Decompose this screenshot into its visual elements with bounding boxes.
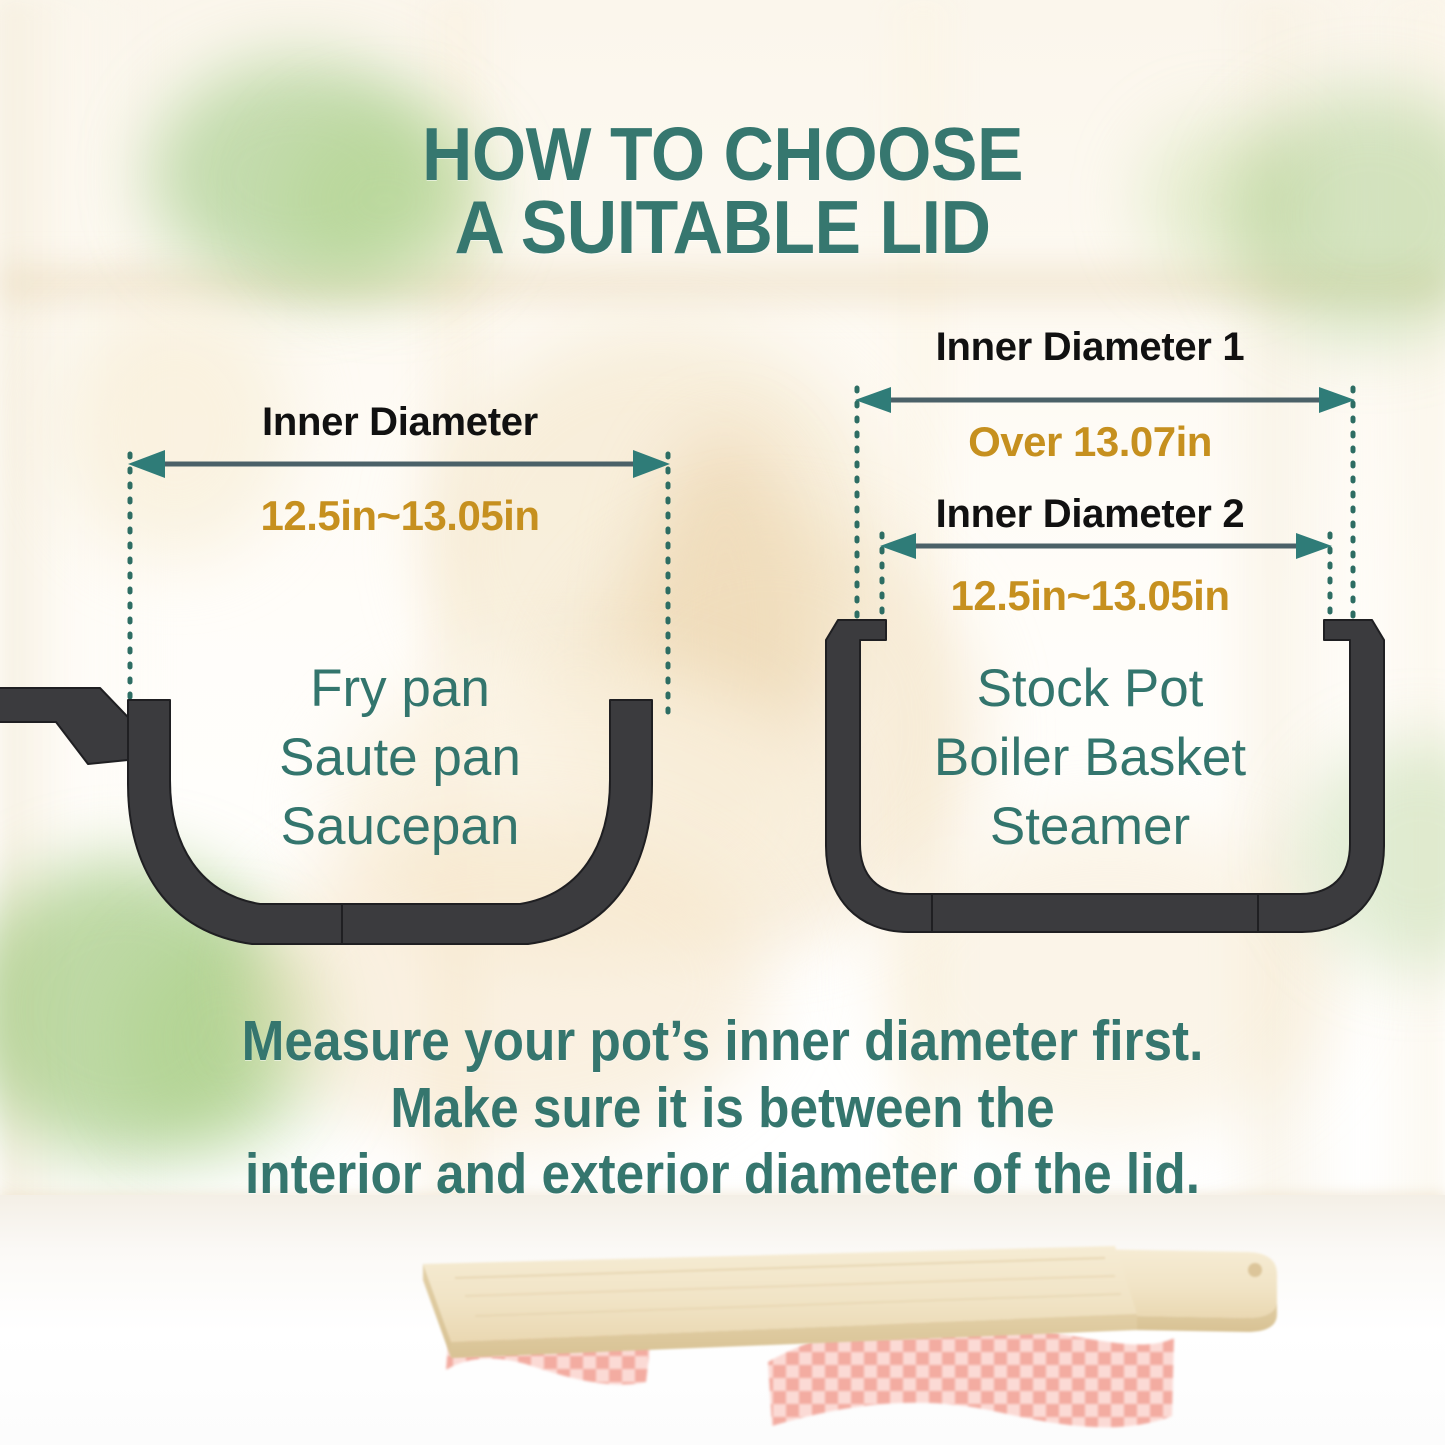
page-title-line-1: HOW TO CHOOSE bbox=[422, 112, 1023, 196]
footer-line-1: Measure your pot’s inner diameter first. bbox=[72, 1008, 1373, 1075]
fry-pan-cross-section-icon bbox=[0, 660, 720, 960]
right-dimension-value-1: Over 13.07in bbox=[760, 418, 1420, 466]
footer-line-3: interior and exterior diameter of the li… bbox=[72, 1141, 1373, 1208]
stock-pot-cross-section-icon bbox=[820, 612, 1390, 932]
infographic-poster: HOW TO CHOOSE A SUITABLE LID Inner Diame… bbox=[0, 0, 1445, 1445]
page-title: HOW TO CHOOSE A SUITABLE LID bbox=[51, 118, 1395, 264]
wooden-cutting-board-icon bbox=[415, 1230, 1305, 1380]
left-dimension-value: 12.5in~13.05in bbox=[0, 492, 800, 540]
footer-line-2: Make sure it is between the bbox=[72, 1075, 1373, 1142]
footer-instructions: Measure your pot’s inner diameter first.… bbox=[72, 1008, 1373, 1208]
left-dimension-label: Inner Diameter bbox=[0, 400, 800, 445]
page-title-line-2: A SUITABLE LID bbox=[51, 191, 1395, 264]
right-dimension-label-1: Inner Diameter 1 bbox=[760, 325, 1420, 370]
